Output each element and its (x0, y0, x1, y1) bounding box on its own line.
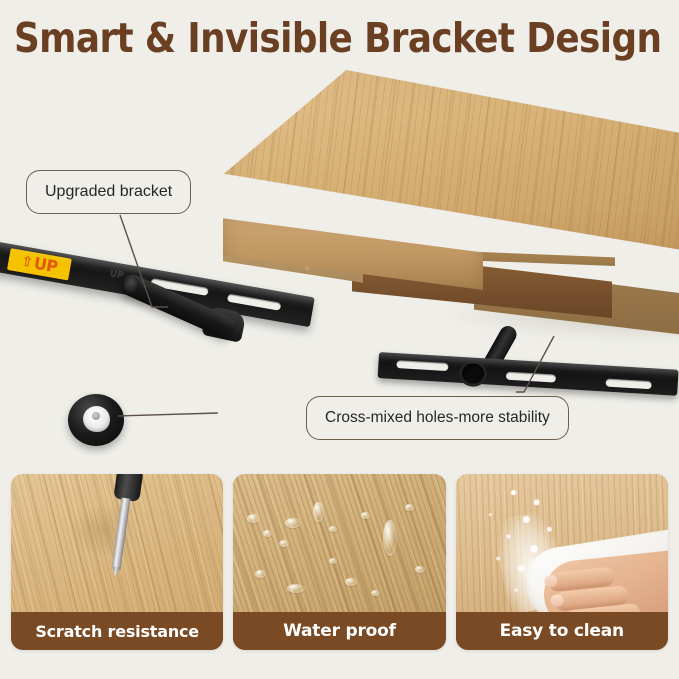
slotted-hole (396, 360, 448, 371)
feature-label-text: Water proof (283, 621, 396, 641)
washer-leader-line (118, 398, 228, 428)
feature-card-label: Scratch resistance (11, 612, 223, 650)
rubber-grommet-washer (68, 394, 124, 446)
slotted-hole (605, 379, 651, 390)
page-title: Smart & Invisible Bracket Design (14, 14, 654, 62)
up-sticker-label: UP (33, 255, 59, 275)
feature-card-label: Easy to clean (456, 612, 668, 650)
feature-cards-row: Scratch resistance (11, 474, 668, 650)
wood-texture (233, 474, 445, 614)
callout-upgraded-bracket-label: Upgraded bracket (45, 183, 172, 200)
feature-card-easy-to-clean[interactable]: Easy to clean (456, 474, 668, 650)
feature-image-water-proof (233, 474, 445, 614)
feature-label-text: Easy to clean (500, 621, 624, 641)
feature-image-scratch-resistance (11, 474, 223, 614)
round-hole (461, 363, 484, 384)
feature-card-scratch-resistance[interactable]: Scratch resistance (11, 474, 223, 650)
shelf-top-surface (224, 70, 679, 252)
floating-shelf-board (224, 70, 679, 320)
feature-card-water-proof[interactable]: Water proof (233, 474, 445, 650)
feature-label-text: Scratch resistance (35, 622, 199, 641)
feature-image-easy-to-clean (456, 474, 668, 614)
up-orientation-sticker: ⇧ UP (7, 248, 72, 280)
callout-cross-mixed-holes: Cross-mixed holes-more stability (306, 396, 569, 440)
grommet-center-hole (92, 412, 100, 420)
feature-card-label: Water proof (233, 612, 445, 650)
slotted-hole (227, 294, 282, 311)
callout-cross-mixed-holes-label: Cross-mixed holes-more stability (325, 409, 550, 426)
infographic-root: Smart & Invisible Bracket Design (0, 0, 679, 679)
upgraded-bracket-callout-tail (120, 215, 230, 325)
callout-upgraded-bracket: Upgraded bracket (26, 170, 191, 214)
